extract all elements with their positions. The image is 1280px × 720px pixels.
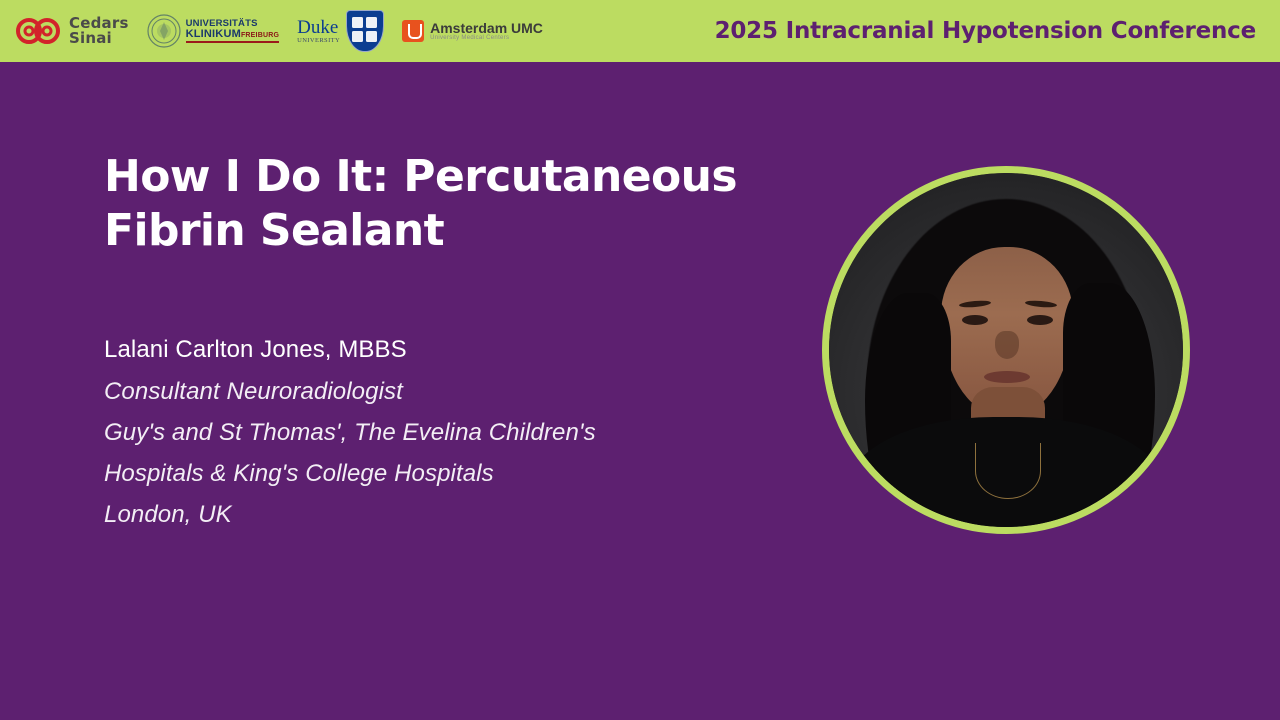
portrait-image — [829, 173, 1183, 527]
amsterdam-umc-line1: Amsterdam UMC — [430, 21, 543, 36]
amsterdam-umc-logo: Amsterdam UMC University Medical Centers — [402, 20, 543, 42]
portrait-eye-right — [1027, 315, 1053, 325]
cedars-sinai-line2: Sinai — [69, 31, 129, 46]
duke-wordmark: Duke UNIVERSITY — [297, 18, 340, 44]
amsterdam-umc-line2: University Medical Centers — [430, 35, 543, 41]
cedars-sinai-wordmark: Cedars Sinai — [69, 16, 129, 46]
conference-title: 2025 Intracranial Hypotension Conference — [715, 18, 1280, 44]
duke-line2: UNIVERSITY — [297, 37, 340, 44]
freiburg-rule — [186, 41, 280, 44]
talk-title: How I Do It: Percutaneous Fibrin Sealant — [104, 150, 794, 257]
slide-content: How I Do It: Percutaneous Fibrin Sealant… — [104, 150, 804, 536]
speaker-name: Lalani Carlton Jones, MBBS — [104, 329, 804, 370]
duke-line1: Duke — [297, 18, 340, 37]
duke-shield-icon — [346, 10, 384, 52]
duke-university-logo: Duke UNIVERSITY — [297, 10, 384, 52]
sponsor-logos: Cedars Sinai UNIVERSITÄTS — [0, 0, 543, 62]
portrait-eye-left — [962, 315, 988, 325]
freiburg-seal-icon — [147, 14, 181, 48]
freiburg-wordmark: UNIVERSITÄTS KLINIKUMFREIBURG — [186, 19, 280, 43]
speaker-affiliation-line-1: Guy's and St Thomas', The Evelina Childr… — [104, 412, 804, 453]
speaker-details: Lalani Carlton Jones, MBBS Consultant Ne… — [104, 329, 804, 535]
amsterdam-umc-wordmark: Amsterdam UMC University Medical Centers — [430, 21, 543, 42]
speaker-role: Consultant Neuroradiologist — [104, 371, 804, 412]
portrait-necklace — [975, 443, 1041, 499]
cedars-sinai-mark-icon — [16, 16, 62, 46]
portrait-mouth — [984, 371, 1030, 383]
speaker-location: London, UK — [104, 494, 804, 535]
cedars-sinai-logo: Cedars Sinai — [16, 16, 129, 46]
presentation-slide: Cedars Sinai UNIVERSITÄTS — [0, 0, 1280, 720]
freiburg-line2: KLINIKUMFREIBURG — [186, 29, 280, 40]
universitatsklinikum-freiburg-logo: UNIVERSITÄTS KLINIKUMFREIBURG — [147, 14, 280, 48]
speaker-portrait — [822, 166, 1190, 534]
portrait-nose — [995, 331, 1019, 359]
speaker-affiliation-line-2: Hospitals & King's College Hospitals — [104, 453, 804, 494]
amsterdam-umc-mark-icon — [402, 20, 424, 42]
conference-banner: Cedars Sinai UNIVERSITÄTS — [0, 0, 1280, 62]
